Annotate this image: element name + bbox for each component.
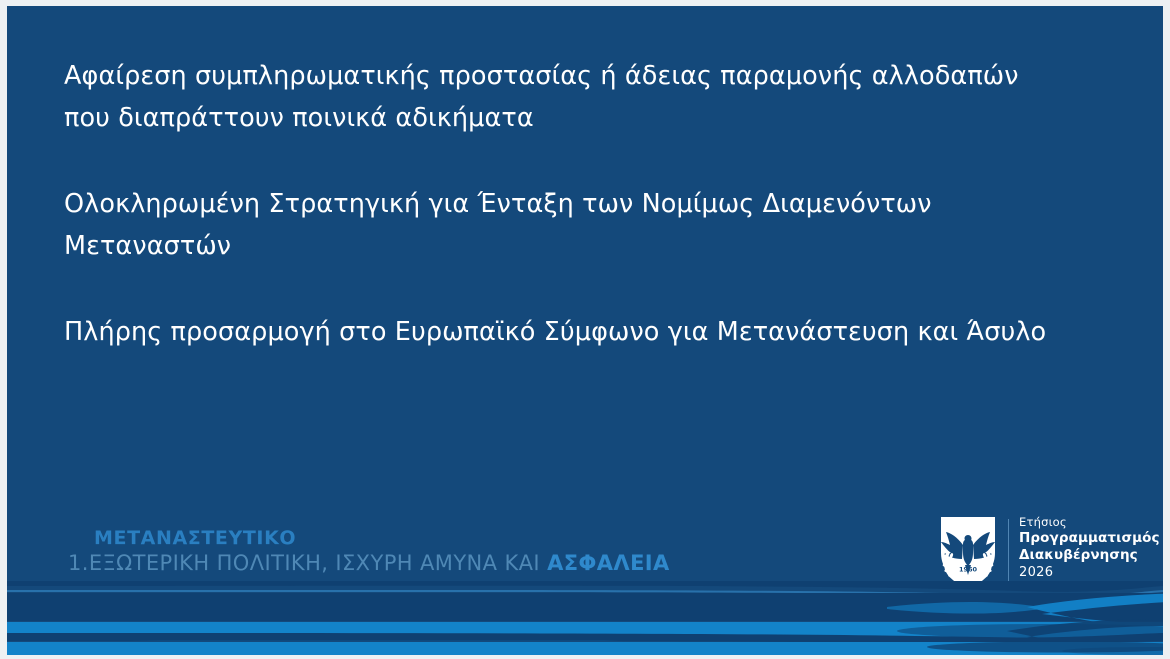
body-paragraph-2: Ολοκληρωμένη Στρατηγική για Ένταξη των Ν… [64,183,1049,267]
footer-topic-label: ΜΕΤΑΝΑΣΤΕΥΤΙΚΟ [94,527,296,549]
body-paragraph-1: Αφαίρεση συμπληρωματικής προστασίας ή άδ… [64,55,1049,139]
footer-pillar-prefix: 1.ΕΞΩΤΕΡΙΚΗ ΠΟΛΙΤΙΚΗ, ΙΣΧΥΡΗ ΑΜΥΝΑ ΚΑΙ [68,551,547,575]
logo-line-4: 2026 [1019,564,1160,581]
crest-year: 1960 [959,566,978,574]
logo-divider [1008,519,1009,583]
cyprus-coat-of-arms-icon: 1960 [935,513,1001,591]
footer-pillar-emphasis: ΑΣΦΑΛΕΙΑ [547,551,670,575]
logo-line-1: Ετήσιος [1019,515,1160,530]
logo-text: Ετήσιος Προγραμματισμός Διακυβέρνησης 20… [1019,515,1160,581]
decorative-wave-band [7,581,1163,655]
body-paragraph-3: Πλήρης προσαρμογή στο Ευρωπαϊκό Σύμφωνο … [64,311,1049,353]
slide-canvas: Αφαίρεση συμπληρωματικής προστασίας ή άδ… [7,6,1163,655]
footer-pillar-label: 1.ΕΞΩΤΕΡΙΚΗ ΠΟΛΙΤΙΚΗ, ΙΣΧΥΡΗ ΑΜΥΝΑ ΚΑΙ Α… [68,551,670,575]
logo-line-3: Διακυβέρνησης [1019,547,1160,564]
footer-labels: ΜΕΤΑΝΑΣΤΕΥΤΙΚΟ 1.ΕΞΩΤΕΡΙΚΗ ΠΟΛΙΤΙΚΗ, ΙΣΧ… [68,527,768,583]
presentation-slide: Αφαίρεση συμπληρωματικής προστασίας ή άδ… [0,0,1170,659]
logo-line-2: Προγραμματισμός [1019,530,1160,547]
slide-body: Αφαίρεση συμπληρωματικής προστασίας ή άδ… [64,55,1049,353]
